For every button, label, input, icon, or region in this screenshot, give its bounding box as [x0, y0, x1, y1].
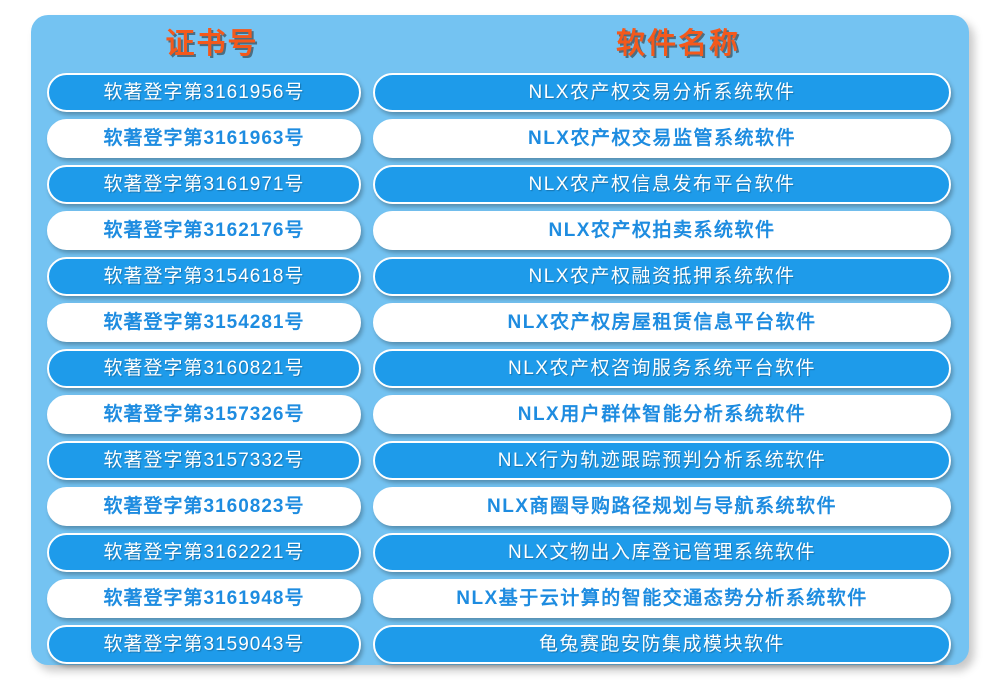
software-name-text: NLX农产权融资抵押系统软件 — [529, 267, 796, 286]
certificate-number-text: 软著登字第3161963号 — [104, 129, 305, 148]
table-body: 软著登字第3161956号NLX农产权交易分析系统软件软著登字第3161963号… — [47, 73, 953, 671]
table-row: 软著登字第3160821号NLX农产权咨询服务系统平台软件 — [47, 349, 953, 388]
software-name-cell: NLX农产权咨询服务系统平台软件 — [373, 349, 951, 388]
certificate-number-cell: 软著登字第3162176号 — [47, 211, 361, 250]
software-name-text: NLX基于云计算的智能交通态势分析系统软件 — [456, 589, 868, 608]
software-name-text: NLX农产权房屋租赁信息平台软件 — [507, 313, 816, 332]
table-row: 软著登字第3161956号NLX农产权交易分析系统软件 — [47, 73, 953, 112]
table-row: 软著登字第3161971号NLX农产权信息发布平台软件 — [47, 165, 953, 204]
table-row: 软著登字第3159043号龟兔赛跑安防集成模块软件 — [47, 625, 953, 664]
software-name-cell: NLX农产权交易分析系统软件 — [373, 73, 951, 112]
certificate-number-cell: 软著登字第3162221号 — [47, 533, 361, 572]
certificate-number-text: 软著登字第3162221号 — [104, 543, 305, 562]
certificate-number-text: 软著登字第3161956号 — [104, 83, 305, 102]
software-name-text: NLX农产权交易监管系统软件 — [528, 129, 796, 148]
software-name-text: NLX商圈导购路径规划与导航系统软件 — [487, 497, 837, 516]
software-name-text: NLX农产权拍卖系统软件 — [548, 221, 775, 240]
software-name-cell: NLX基于云计算的智能交通态势分析系统软件 — [373, 579, 951, 618]
software-name-cell: NLX农产权交易监管系统软件 — [373, 119, 951, 158]
software-name-cell: NLX文物出入库登记管理系统软件 — [373, 533, 951, 572]
software-name-text: NLX农产权交易分析系统软件 — [529, 83, 796, 102]
certificate-number-cell: 软著登字第3157326号 — [47, 395, 361, 434]
software-name-cell: 龟兔赛跑安防集成模块软件 — [373, 625, 951, 664]
table-row: 软著登字第3162221号NLX文物出入库登记管理系统软件 — [47, 533, 953, 572]
certificate-number-text: 软著登字第3157326号 — [104, 405, 305, 424]
certificate-number-text: 软著登字第3161948号 — [104, 589, 305, 608]
certificate-number-cell: 软著登字第3160821号 — [47, 349, 361, 388]
certificate-number-cell: 软著登字第3157332号 — [47, 441, 361, 480]
table-row: 软著登字第3157326号NLX用户群体智能分析系统软件 — [47, 395, 953, 434]
software-name-cell: NLX行为轨迹跟踪预判分析系统软件 — [373, 441, 951, 480]
software-name-text: NLX行为轨迹跟踪预判分析系统软件 — [498, 451, 826, 470]
certificate-number-text: 软著登字第3154281号 — [104, 313, 305, 332]
software-name-text: 龟兔赛跑安防集成模块软件 — [539, 635, 785, 654]
table-header-row: 证书号 软件名称 — [31, 15, 969, 73]
software-name-cell: NLX商圈导购路径规划与导航系统软件 — [373, 487, 951, 526]
table-row: 软著登字第3161948号NLX基于云计算的智能交通态势分析系统软件 — [47, 579, 953, 618]
certificate-table-panel: 证书号 软件名称 软著登字第3161956号NLX农产权交易分析系统软件软著登字… — [31, 15, 969, 665]
table-row: 软著登字第3161963号NLX农产权交易监管系统软件 — [47, 119, 953, 158]
table-row: 软著登字第3160823号NLX商圈导购路径规划与导航系统软件 — [47, 487, 953, 526]
certificate-number-text: 软著登字第3154618号 — [104, 267, 305, 286]
certificate-number-cell: 软著登字第3161971号 — [47, 165, 361, 204]
certificate-number-cell: 软著登字第3160823号 — [47, 487, 361, 526]
table-row: 软著登字第3162176号NLX农产权拍卖系统软件 — [47, 211, 953, 250]
header-title-certificate-number: 证书号 — [165, 30, 258, 59]
software-name-cell: NLX农产权拍卖系统软件 — [373, 211, 951, 250]
software-name-cell: NLX农产权信息发布平台软件 — [373, 165, 951, 204]
software-name-text: NLX农产权咨询服务系统平台软件 — [508, 359, 816, 378]
certificate-number-text: 软著登字第3159043号 — [104, 635, 305, 654]
header-cell-certificate-number: 证书号 — [47, 15, 377, 73]
certificate-number-cell: 软著登字第3154618号 — [47, 257, 361, 296]
software-name-cell: NLX农产权房屋租赁信息平台软件 — [373, 303, 951, 342]
software-name-text: NLX用户群体智能分析系统软件 — [518, 405, 807, 424]
certificate-number-text: 软著登字第3160821号 — [104, 359, 305, 378]
table-row: 软著登字第3154618号NLX农产权融资抵押系统软件 — [47, 257, 953, 296]
certificate-number-cell: 软著登字第3159043号 — [47, 625, 361, 664]
software-name-cell: NLX农产权融资抵押系统软件 — [373, 257, 951, 296]
certificate-number-cell: 软著登字第3161963号 — [47, 119, 361, 158]
software-name-text: NLX文物出入库登记管理系统软件 — [508, 543, 816, 562]
table-row: 软著登字第3157332号NLX行为轨迹跟踪预判分析系统软件 — [47, 441, 953, 480]
software-name-text: NLX农产权信息发布平台软件 — [529, 175, 796, 194]
software-name-cell: NLX用户群体智能分析系统软件 — [373, 395, 951, 434]
certificate-number-cell: 软著登字第3161956号 — [47, 73, 361, 112]
header-title-software-name: 软件名称 — [616, 30, 740, 59]
certificate-number-text: 软著登字第3161971号 — [104, 175, 305, 194]
certificate-number-cell: 软著登字第3161948号 — [47, 579, 361, 618]
certificate-number-text: 软著登字第3160823号 — [104, 497, 305, 516]
certificate-number-text: 软著登字第3157332号 — [104, 451, 305, 470]
certificate-number-text: 软著登字第3162176号 — [104, 221, 305, 240]
table-row: 软著登字第3154281号NLX农产权房屋租赁信息平台软件 — [47, 303, 953, 342]
certificate-number-cell: 软著登字第3154281号 — [47, 303, 361, 342]
header-cell-software-name: 软件名称 — [389, 15, 967, 73]
